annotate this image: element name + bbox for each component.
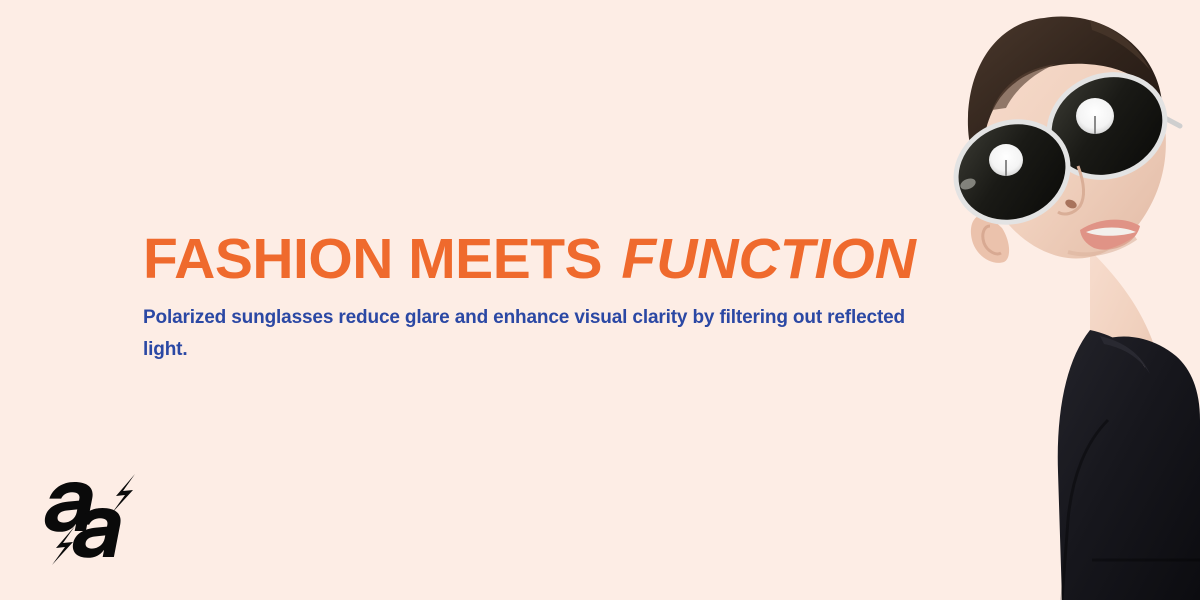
subheadline-text: Polarized sunglasses reduce glare and en… — [143, 302, 913, 366]
t-shirt — [1058, 330, 1200, 600]
headline-part-roman: FASHION MEETS — [143, 227, 617, 291]
teeth — [1086, 228, 1136, 236]
glasses-lens-left — [941, 105, 1083, 239]
jaw-shadow — [1068, 238, 1136, 254]
glasses-temple-arm-left — [958, 170, 976, 184]
lens-reflection — [1076, 98, 1114, 134]
lightning-bolt-icon — [112, 474, 135, 513]
promo-banner: FASHION MEETS FUNCTION Polarized sunglas… — [0, 0, 1200, 600]
ear — [971, 215, 1009, 263]
glasses-bridge — [1052, 142, 1090, 160]
man-wearing-aviator-sunglasses-illustration — [940, 0, 1200, 600]
double-a-lightning-icon — [40, 468, 144, 572]
hair — [968, 17, 1162, 177]
model-photo — [940, 0, 1200, 600]
glasses-temple-arm — [1146, 108, 1180, 126]
lens-reflection — [989, 144, 1023, 176]
mouth — [1080, 220, 1140, 250]
sleeve-fold — [1062, 420, 1108, 600]
nose — [1058, 166, 1084, 214]
nostril — [1064, 198, 1078, 210]
lightning-bolt-icon — [52, 526, 75, 565]
neck — [1090, 250, 1168, 420]
hair-highlight — [992, 64, 1056, 110]
face — [978, 20, 1166, 259]
glasses-lens-right — [1034, 58, 1181, 195]
copy-block: FASHION MEETS FUNCTION Polarized sunglas… — [143, 228, 933, 366]
lens-logo — [959, 176, 978, 191]
headline-part-italic: FUNCTION — [617, 227, 915, 291]
page-title: FASHION MEETS FUNCTION — [143, 228, 933, 290]
brand-logo[interactable] — [40, 468, 144, 572]
collar — [1100, 336, 1150, 374]
ear-detail — [983, 226, 1001, 254]
hair-highlight — [1090, 20, 1150, 70]
